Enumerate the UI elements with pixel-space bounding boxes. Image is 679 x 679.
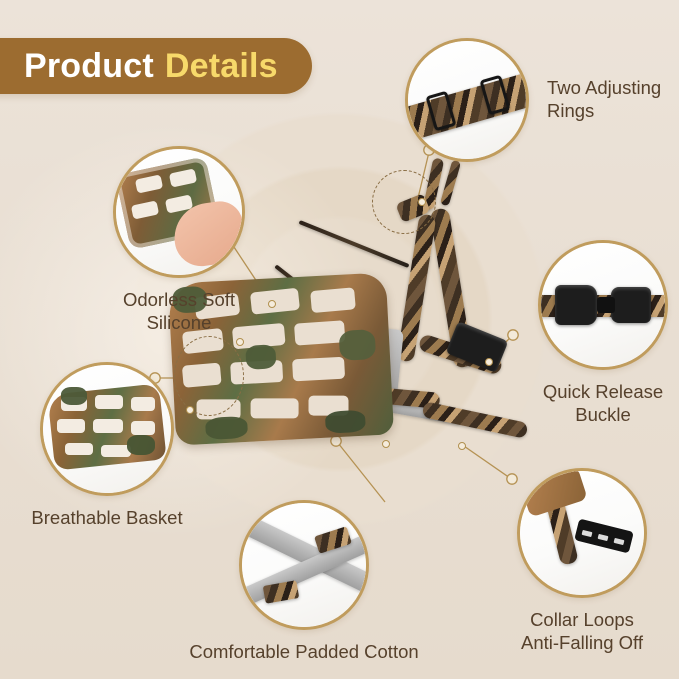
callout-label-breathable-basket: Breathable Basket	[22, 507, 192, 530]
product-details-infographic: ProductDetails	[0, 0, 679, 679]
callout-collar-loops: Collar Loops Anti-Falling Off	[492, 468, 672, 654]
basket-slot	[251, 398, 299, 418]
leader-dot-padded	[382, 440, 390, 448]
callout-label-collar-loops: Collar Loops Anti-Falling Off	[492, 609, 672, 654]
camo-blotch	[339, 329, 377, 361]
basket-slot	[131, 397, 155, 411]
callout-label-odorless-soft-silicone: Odorless Soft Silicone	[104, 289, 254, 334]
leader-dot-silicone	[268, 300, 276, 308]
leader-dot-handle	[418, 198, 426, 206]
camo-blotch	[245, 344, 276, 370]
buckle-prong	[597, 297, 615, 313]
leader-dot-basket-top	[236, 338, 244, 346]
callout-image-quick-release-buckle	[538, 240, 668, 370]
basket-slot	[294, 320, 345, 345]
callout-breathable-basket: Breathable Basket	[22, 362, 192, 530]
callout-image-collar-loops	[517, 468, 647, 598]
camo-blotch	[127, 435, 155, 455]
basket-slot	[93, 419, 123, 433]
callout-two-adjusting-rings: Two Adjusting Rings	[405, 38, 679, 162]
callout-image-odorless-soft-silicone	[113, 146, 245, 278]
title-word-details: Details	[165, 47, 278, 85]
basket-slot	[65, 443, 93, 455]
page-title: ProductDetails	[24, 49, 278, 83]
callout-label-two-adjusting-rings: Two Adjusting Rings	[547, 77, 661, 122]
leader-dot-collar	[458, 442, 466, 450]
buckle-female-end	[555, 285, 597, 325]
camo-blotch	[61, 387, 87, 405]
callout-odorless-soft-silicone: Odorless Soft Silicone	[104, 146, 254, 334]
page-title-banner: ProductDetails	[0, 38, 312, 94]
callout-label-comfortable-padded-cotton: Comfortable Padded Cotton	[174, 641, 434, 664]
callout-image-two-adjusting-rings	[405, 38, 529, 162]
title-word-product: Product	[24, 47, 154, 85]
leader-dot-buckle	[485, 358, 493, 366]
product-handle-loop-right	[440, 160, 461, 207]
basket-slot	[131, 421, 155, 435]
callout-label-quick-release-buckle: Quick Release Buckle	[528, 381, 678, 426]
buckle-male-end	[611, 287, 651, 323]
basket-slot	[57, 419, 85, 433]
basket-slot	[292, 357, 345, 382]
product-collar-strap	[421, 401, 528, 439]
callout-comfortable-padded-cotton: Comfortable Padded Cotton	[174, 500, 434, 664]
callout-image-breathable-basket	[40, 362, 174, 496]
basket-slot	[95, 395, 123, 409]
callout-image-comfortable-padded-cotton	[239, 500, 369, 630]
basket-slot	[310, 287, 356, 313]
callout-quick-release-buckle: Quick Release Buckle	[528, 240, 678, 426]
handle-highlight-ring	[372, 170, 436, 234]
